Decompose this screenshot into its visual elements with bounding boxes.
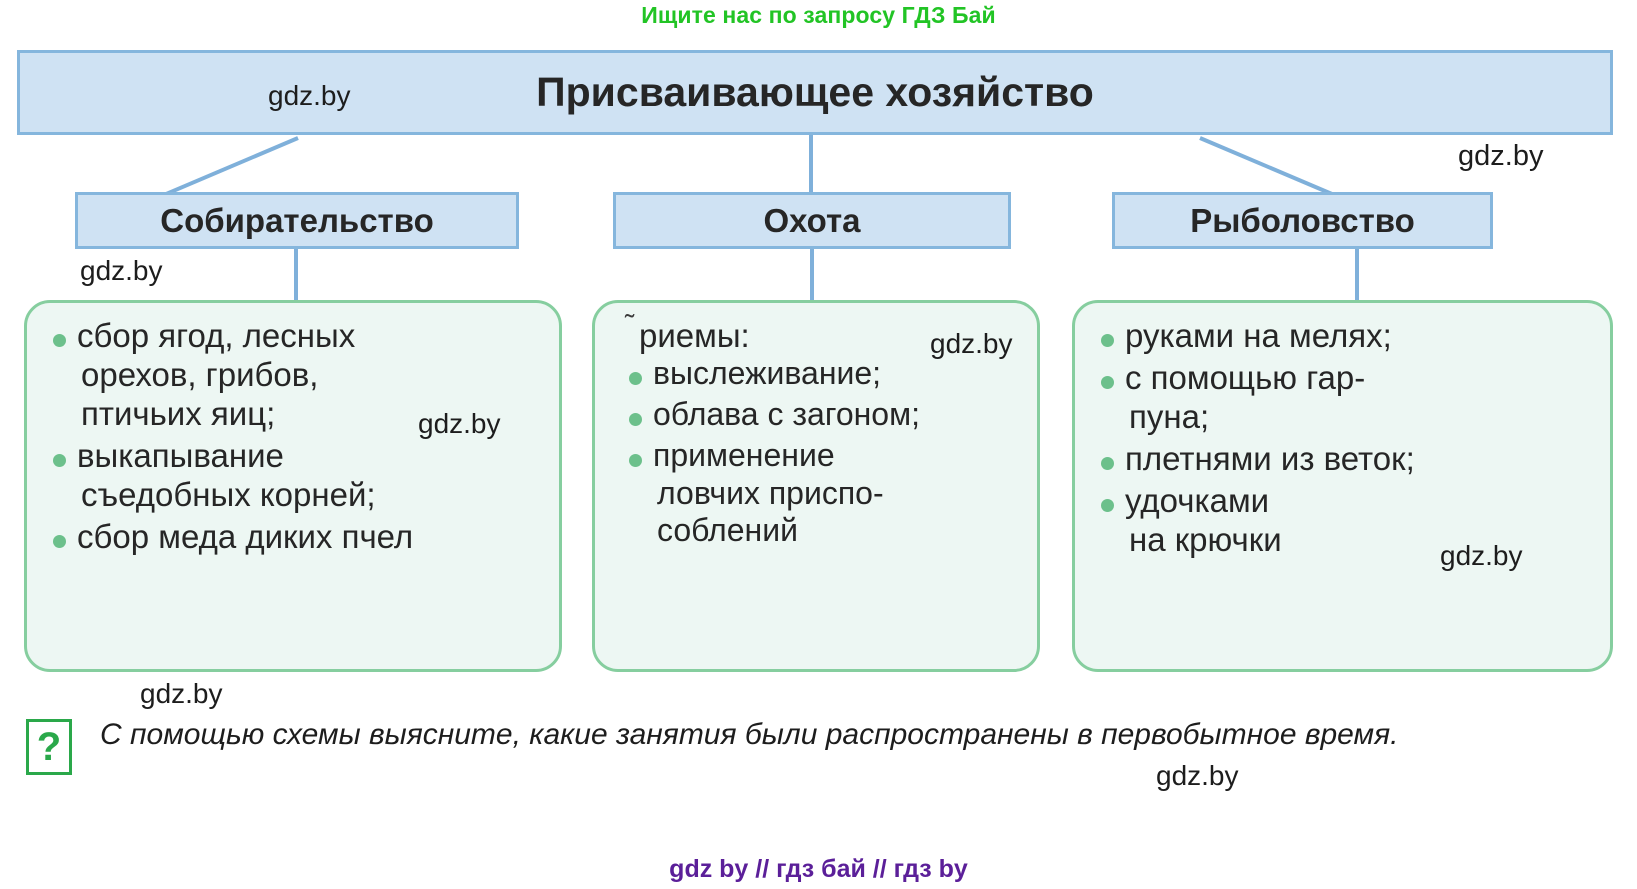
- question-text: С помощью схемы выясните, какие занятия …: [100, 712, 1606, 758]
- list-item-line: удочками: [1125, 482, 1269, 519]
- watermark: gdz.by: [1156, 760, 1239, 792]
- bullet-list-gathering: сбор ягод, лесных орехов, грибов, птичьи…: [41, 317, 549, 557]
- category-box-gathering: Собирательство: [75, 192, 519, 249]
- footer-watermark: gdz by // гдз бай // гдз by: [0, 855, 1637, 884]
- bullet-list-fishing: руками на мелях; с помощью гар- пуна; пл…: [1089, 317, 1600, 560]
- watermark: gdz.by: [1458, 140, 1543, 173]
- watermark: gdz.by: [140, 678, 223, 710]
- connector-diagonal-gathering: [155, 136, 298, 200]
- panel-heading-text: риемы:: [639, 317, 750, 354]
- list-item-line: применение: [653, 437, 835, 473]
- question-row: ? С помощью схемы выясните, какие заняти…: [26, 712, 1606, 758]
- panel-heading-hunting: ˜ риемы:: [609, 317, 1027, 355]
- list-item-line: птичьих яиц;: [77, 395, 549, 434]
- list-item-line: пуна;: [1125, 398, 1600, 437]
- list-item: плетнями из веток;: [1089, 440, 1600, 479]
- question-mark-icon: ?: [26, 719, 72, 775]
- list-item-line: руками на мелях;: [1125, 317, 1392, 354]
- detail-panel-hunting: ˜ риемы: выслеживание; облава с загоном;…: [592, 300, 1040, 672]
- list-item: сбор ягод, лесных орехов, грибов, птичьи…: [41, 317, 549, 434]
- watermark: gdz.by: [80, 255, 163, 287]
- list-item-line: сбор меда диких пчел: [77, 518, 413, 555]
- connector-hunting-to-panel: [810, 249, 814, 302]
- list-item-line: съедобных корней;: [77, 476, 549, 515]
- list-item-line: на крючки: [1125, 521, 1600, 560]
- category-box-fishing: Рыболовство: [1112, 192, 1493, 249]
- list-item-line: соблений: [653, 512, 1027, 550]
- list-item-line: облава с загоном;: [653, 396, 920, 432]
- list-item: выкапывание съедобных корней;: [41, 437, 549, 515]
- list-item: применение ловчих приспо- соблений: [609, 437, 1027, 550]
- detail-panel-gathering: сбор ягод, лесных орехов, грибов, птичьи…: [24, 300, 562, 672]
- list-item-line: с помощью гар-: [1125, 359, 1365, 396]
- category-label-fishing: Рыболовство: [1190, 202, 1415, 240]
- connector-fishing-to-panel: [1355, 249, 1359, 302]
- bullet-list-hunting: выслеживание; облава с загоном; применен…: [609, 355, 1027, 550]
- list-item-line: выкапывание: [77, 437, 284, 474]
- detail-panel-fishing: руками на мелях; с помощью гар- пуна; пл…: [1072, 300, 1613, 672]
- list-item-line: ловчих приспо-: [653, 475, 1027, 513]
- title-box: Присваивающее хозяйство: [17, 50, 1613, 135]
- glitch-mark-icon: ˜: [625, 309, 634, 341]
- list-item: выслеживание;: [609, 355, 1027, 393]
- list-item-line: сбор ягод, лесных: [77, 317, 355, 354]
- list-item: с помощью гар- пуна;: [1089, 359, 1600, 437]
- list-item-line: плетнями из веток;: [1125, 440, 1415, 477]
- connector-gathering-to-panel: [294, 249, 298, 302]
- list-item: удочками на крючки: [1089, 482, 1600, 560]
- connector-diagonal-fishing: [1199, 136, 1340, 199]
- list-item-line: орехов, грибов,: [77, 356, 549, 395]
- list-item: сбор меда диких пчел: [41, 518, 549, 557]
- promo-banner: Ищите нас по запросу ГДЗ Бай: [0, 2, 1637, 29]
- page-title: Присваивающее хозяйство: [536, 69, 1094, 116]
- list-item: облава с загоном;: [609, 396, 1027, 434]
- diagram-canvas: Ищите нас по запросу ГДЗ Бай Присваивающ…: [0, 0, 1637, 889]
- list-item-line: выслеживание;: [653, 355, 881, 391]
- connector-trunk-hunt: [809, 135, 813, 192]
- category-box-hunting: Охота: [613, 192, 1011, 249]
- category-label-gathering: Собирательство: [160, 202, 433, 240]
- list-item: руками на мелях;: [1089, 317, 1600, 356]
- category-label-hunting: Охота: [763, 202, 860, 240]
